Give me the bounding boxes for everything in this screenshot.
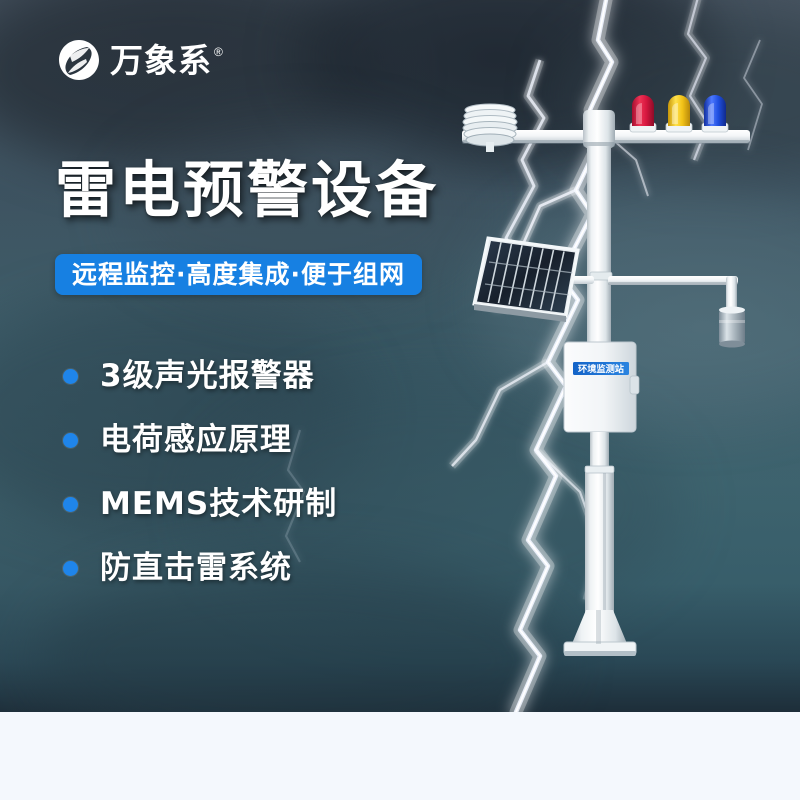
page-title: 雷电预警设备 [55,158,439,224]
feature-list: 3级声光报警器 电荷感应原理 MEMS技术研制 防直击雷系统 [63,344,443,600]
list-item: 电荷感应原理 [63,408,443,472]
product-promo-poster: 环境监测站 [0,0,800,800]
bullet-dot-icon [63,369,78,384]
radiation-shield-sensor [463,104,517,152]
alarm-light-red [630,95,656,132]
brand-logo: 万象系 ® [57,38,223,82]
hero-feature-badge: 远程监控·高度集成·便于组网 [55,254,422,295]
list-item: 3级声光报警器 [63,344,443,408]
lower-mast [585,432,614,634]
feature-label: 电荷感应原理 [100,425,292,456]
alarm-light-yellow [666,95,692,132]
crossbar-clamp [583,110,615,148]
feature-label: 防直击雷系统 [100,553,292,584]
bottom-trust-bar: 极速发货 售后无忧 品质保障 [0,712,800,800]
list-item: MEMS技术研制 [63,472,443,536]
trademark-symbol: ® [214,46,223,58]
bullet-dot-icon [63,433,78,448]
feature-label: 3级声光报警器 [100,361,315,392]
alarm-light-blue [702,95,728,132]
bullet-dot-icon [63,561,78,576]
swoosh-sphere-logo-icon [57,38,101,82]
sensor-cylinder [719,307,745,348]
control-box: 环境监测站 [564,342,639,432]
feature-label: MEMS技术研制 [100,489,337,520]
solar-panel [474,238,594,322]
base-flange [564,610,636,656]
list-item: 防直击雷系统 [63,536,443,600]
control-box-label: 环境监测站 [578,363,625,375]
sensor-arm [608,276,738,314]
bullet-dot-icon [63,497,78,512]
brand-name: 万象系 [110,44,212,77]
brand-name-group: 万象系 ® [110,44,223,77]
mast-pole [587,146,612,354]
lightning-warning-station-product: 环境监测站 [440,90,800,690]
hero-feature-badge-label: 远程监控·高度集成·便于组网 [72,262,405,287]
